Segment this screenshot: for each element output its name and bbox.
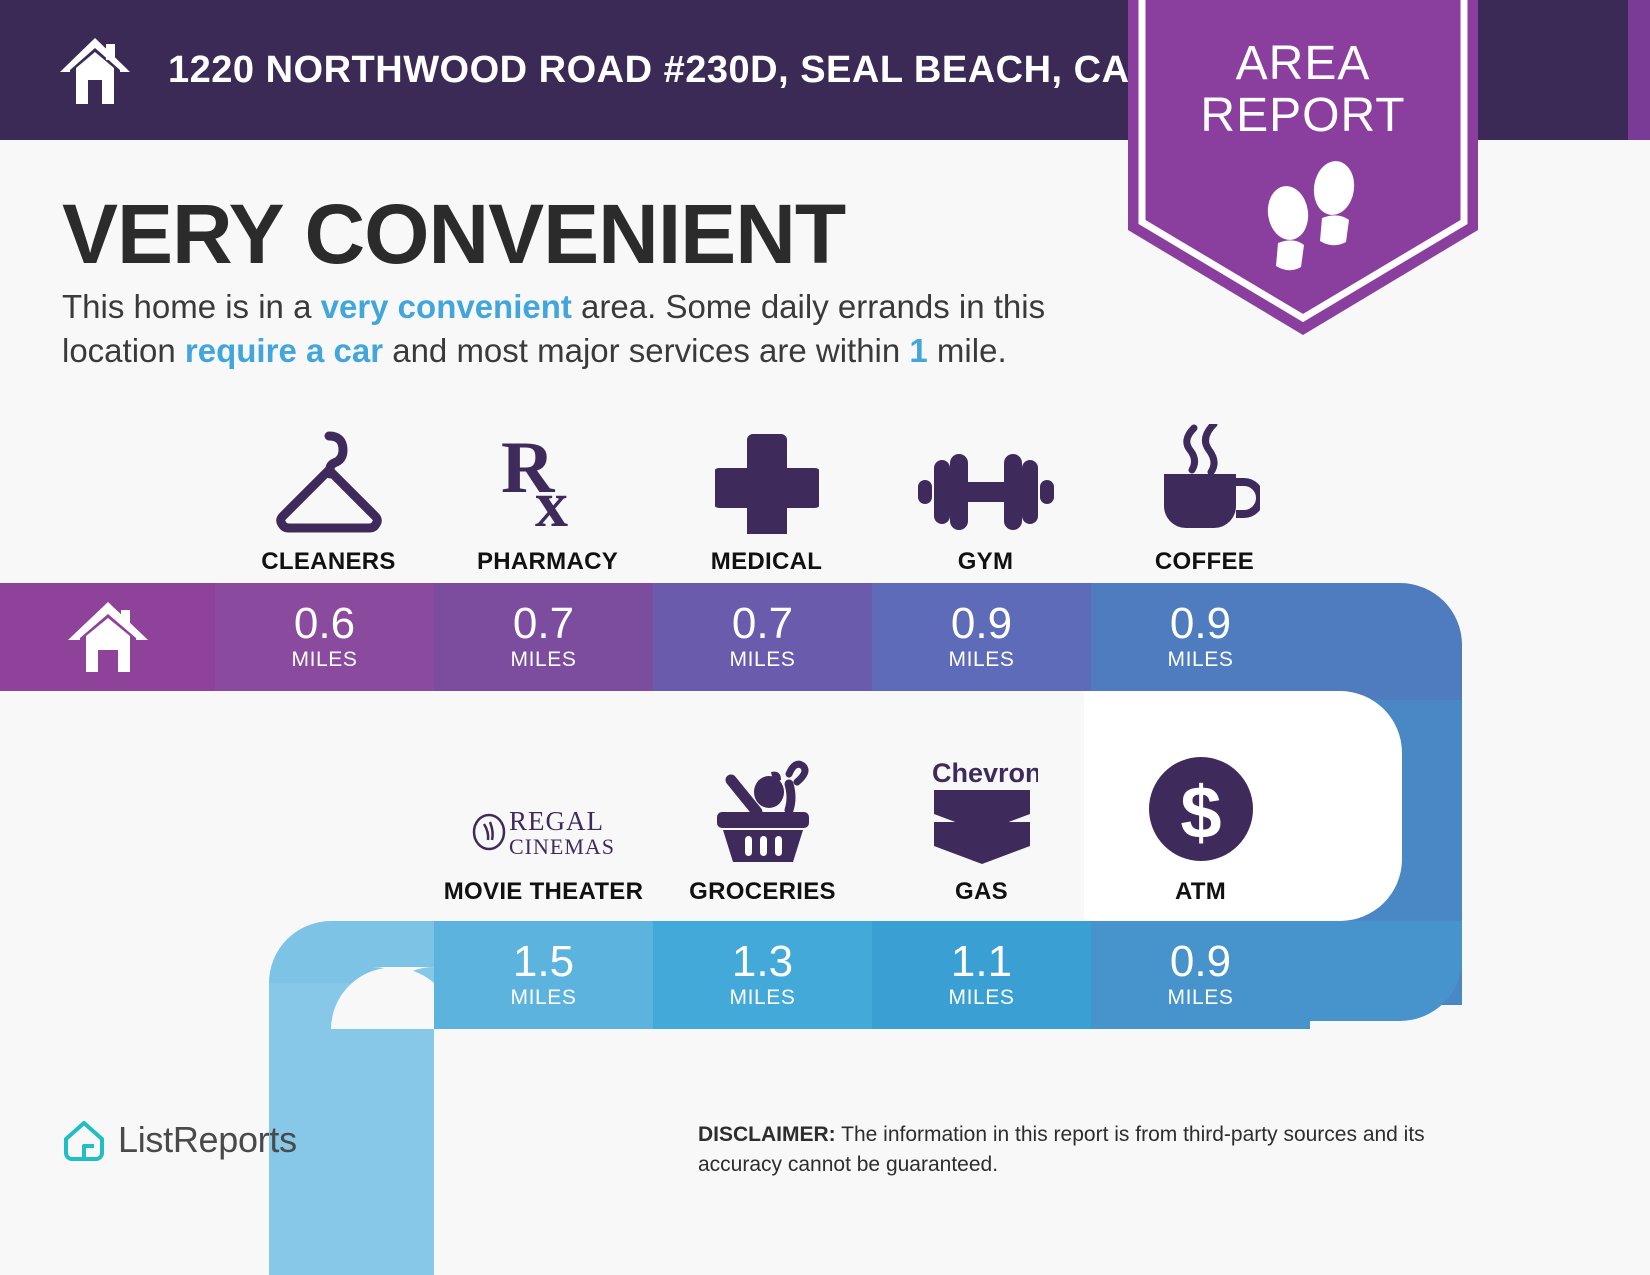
page-title: VERY CONVENIENT: [62, 186, 845, 283]
distance-bar-row-primary: 0.6 MILES 0.7 MILES 0.7 MILES 0.9 MILES …: [0, 583, 1310, 691]
distance-cell-atm: 0.9 MILES: [1091, 921, 1310, 1029]
icon-row-1-spacer: [0, 418, 219, 576]
category-medical: MEDICAL: [657, 418, 876, 576]
listreports-logo-text: ListReports: [118, 1119, 297, 1161]
distance-unit: MILES: [1167, 648, 1233, 672]
coffee-icon: [1150, 418, 1260, 534]
svg-text:x: x: [535, 468, 568, 534]
category-label: MEDICAL: [711, 548, 822, 576]
distance-cell-movie-theater: 1.5 MILES: [434, 921, 653, 1029]
category-cleaners: CLEANERS: [219, 418, 438, 576]
desc-part-3: and most major services are within: [383, 332, 909, 369]
header-right-strip: [1628, 0, 1650, 140]
badge-line-2: REPORT: [1128, 90, 1478, 142]
distance-cell-cleaners: 0.6 MILES: [215, 583, 434, 691]
distance-unit: MILES: [291, 648, 357, 672]
distance-bar-row-secondary: 1.5 MILES 1.3 MILES 1.1 MILES 0.9 MILES: [434, 921, 1310, 1029]
distance-unit: MILES: [729, 648, 795, 672]
category-movie-theater: REGAL CINEMAS MOVIE THEATER: [434, 748, 653, 906]
category-label: GROCERIES: [689, 878, 836, 906]
category-label: COFFEE: [1155, 548, 1254, 576]
icon-row-secondary: REGAL CINEMAS MOVIE THEATER GROCERIES: [434, 748, 1650, 906]
area-report-badge: AREA REPORT: [1128, 0, 1478, 340]
chevron-logo: Chevron: [926, 748, 1038, 864]
listreports-logo[interactable]: ListReports: [62, 1118, 297, 1162]
category-gas: Chevron GAS: [872, 748, 1091, 906]
desc-highlight-1: very convenient: [321, 288, 572, 325]
desc-highlight-2: require a car: [185, 332, 383, 369]
distance-unit: MILES: [729, 986, 795, 1010]
category-pharmacy: R x PHARMACY: [438, 418, 657, 576]
distance-cell-coffee: 0.9 MILES: [1091, 583, 1310, 691]
distance-unit: MILES: [948, 986, 1014, 1010]
distance-value: 1.5: [513, 940, 574, 984]
distance-unit: MILES: [510, 986, 576, 1010]
svg-text:CINEMAS: CINEMAS: [509, 834, 615, 859]
disclaimer: DISCLAIMER: The information in this repo…: [698, 1120, 1508, 1180]
distance-value: 1.3: [732, 940, 793, 984]
category-label: PHARMACY: [477, 548, 618, 576]
desc-part-4: mile.: [928, 332, 1007, 369]
distance-unit: MILES: [948, 648, 1014, 672]
disclaimer-label: DISCLAIMER:: [698, 1123, 836, 1146]
header-address: 1220 NORTHWOOD ROAD #230D, SEAL BEACH, C…: [168, 49, 1247, 92]
distance-value: 0.9: [1170, 602, 1231, 646]
distance-value: 0.9: [951, 602, 1012, 646]
dumbbell-icon: [918, 418, 1054, 534]
desc-highlight-3: 1: [909, 332, 927, 369]
description-text: This home is in a very convenient area. …: [62, 285, 1122, 373]
distance-value: 0.7: [732, 602, 793, 646]
badge-text: AREA REPORT: [1128, 38, 1478, 142]
grocery-basket-icon: [705, 748, 821, 864]
dollar-circle-icon: $: [1146, 748, 1256, 864]
home-marker-cell: [0, 583, 215, 691]
house-icon: [58, 34, 132, 106]
category-label: GAS: [955, 878, 1008, 906]
distance-unit: MILES: [1167, 986, 1233, 1010]
desc-part-1: This home is in a: [62, 288, 321, 325]
category-label: GYM: [958, 548, 1014, 576]
category-label: CLEANERS: [261, 548, 395, 576]
distance-value: 0.6: [294, 602, 355, 646]
listreports-house-icon: [62, 1118, 106, 1162]
distance-value: 0.7: [513, 602, 574, 646]
distance-cell-gym: 0.9 MILES: [872, 583, 1091, 691]
category-label: MOVIE THEATER: [444, 878, 643, 906]
category-groceries: GROCERIES: [653, 748, 872, 906]
distance-cell-pharmacy: 0.7 MILES: [434, 583, 653, 691]
badge-line-1: AREA: [1128, 38, 1478, 90]
regal-cinemas-logo: REGAL CINEMAS: [471, 748, 617, 864]
icon-row-primary: CLEANERS R x PHARMACY MEDICAL: [0, 418, 1320, 576]
house-icon: [66, 600, 150, 674]
category-label: ATM: [1175, 878, 1226, 906]
hanger-icon: [269, 418, 389, 534]
svg-text:REGAL: REGAL: [509, 806, 604, 836]
distance-cell-groceries: 1.3 MILES: [653, 921, 872, 1029]
distance-unit: MILES: [510, 648, 576, 672]
distance-value: 0.9: [1170, 940, 1231, 984]
svg-text:Chevron: Chevron: [932, 758, 1038, 788]
svg-text:$: $: [1180, 771, 1221, 854]
rx-icon: R x: [493, 418, 603, 534]
distance-cell-gas: 1.1 MILES: [872, 921, 1091, 1029]
category-atm: $ ATM: [1091, 748, 1310, 906]
category-gym: GYM: [876, 418, 1095, 576]
cross-icon: [715, 418, 819, 534]
category-coffee: COFFEE: [1095, 418, 1314, 576]
distance-cell-medical: 0.7 MILES: [653, 583, 872, 691]
distance-value: 1.1: [951, 940, 1012, 984]
